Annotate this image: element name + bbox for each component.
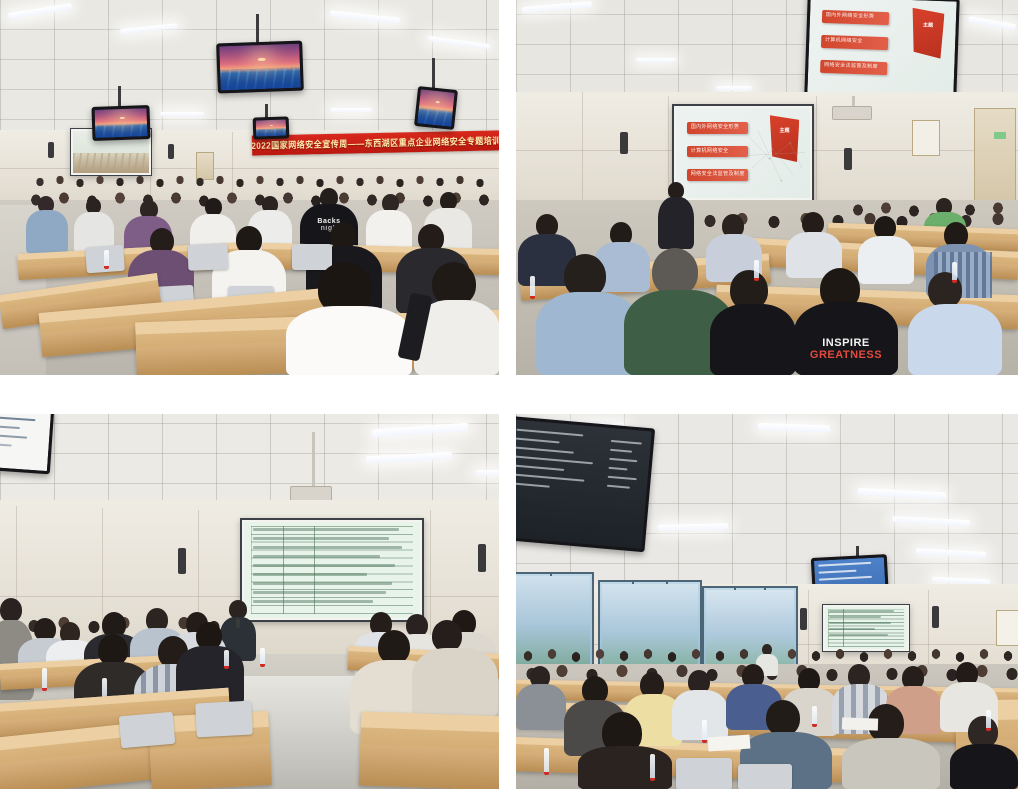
monitor-icon	[516, 416, 655, 552]
paper-handout	[842, 717, 878, 730]
water-bottle	[42, 668, 47, 691]
water-bottle	[530, 276, 535, 299]
water-bottle	[224, 650, 229, 669]
wall-speaker-icon	[48, 142, 54, 158]
ceiling-lamp	[476, 470, 499, 475]
slide-item-3: 网络安全法监管及制度	[820, 60, 887, 73]
ceiling-lamp	[716, 86, 752, 90]
jacket-text-line2: GREATNESS	[798, 350, 894, 362]
water-bottle	[952, 262, 957, 283]
slide-topic-flag-label: 主题	[912, 8, 945, 29]
water-bottle	[260, 648, 265, 667]
water-bottle	[702, 720, 707, 743]
wall-speaker-icon	[800, 608, 807, 630]
monitor-icon	[0, 414, 54, 474]
decorative-network-lines	[746, 124, 805, 187]
paper-handout	[708, 735, 751, 752]
monitor-icon	[414, 86, 458, 130]
exit-sign-icon	[994, 132, 1006, 139]
projection-screen	[240, 518, 424, 622]
slide-item-2: 计算机网络安全	[821, 35, 888, 48]
slide-topic-flag: 主题	[911, 8, 945, 59]
monitor-icon	[91, 105, 150, 141]
water-bottle	[754, 260, 759, 281]
water-bottle	[986, 710, 991, 731]
slide-item-3: 网络安全法监管及制度	[687, 169, 749, 180]
wall-speaker-icon	[168, 144, 174, 159]
water-bottle	[104, 250, 109, 269]
wall-speaker-icon	[620, 132, 628, 154]
wall-speaker-icon	[932, 606, 939, 628]
chair	[292, 244, 332, 270]
slide-item-1: 国内外网络安全形势	[822, 10, 889, 23]
chair	[188, 243, 229, 270]
wall-speaker-icon	[478, 544, 486, 572]
photo-bottom-left	[0, 414, 499, 789]
photo-bottom-right	[516, 414, 1018, 789]
monitor-icon: 国内外网络安全形势 计算机网络安全 网络安全法监管及制度 主题	[804, 0, 959, 101]
table-slide	[244, 522, 420, 618]
presentation-slide: 国内外网络安全形势 计算机网络安全 网络安全法监管及制度 主题	[676, 108, 810, 198]
photo-top-left: 2022国家网络安全宣传周——东西湖区重点企业网络安全专题培训	[0, 0, 499, 375]
lecture-desk	[359, 711, 499, 789]
chair	[119, 712, 176, 749]
microphone-icon	[236, 618, 240, 628]
slide-mirror: 国内外网络安全形势 计算机网络安全 网络安全法监管及制度 主题	[807, 0, 956, 98]
presenter-body	[658, 197, 694, 249]
monitor-icon	[216, 41, 304, 94]
projection-screen: 国内外网络安全形势 计算机网络安全 网络安全法监管及制度 主题	[672, 104, 814, 202]
jacket-text-line1: INSPIRE	[798, 338, 894, 350]
ceiling-lamp	[658, 523, 728, 530]
ceiling-lamp	[636, 58, 676, 62]
monitor-icon	[253, 116, 290, 139]
water-bottle	[650, 754, 655, 781]
water-bottle	[544, 748, 549, 775]
door	[974, 108, 1016, 206]
wall-speaker-icon	[844, 148, 852, 170]
wall-speaker-icon	[178, 548, 186, 574]
ceiling-lamp	[160, 112, 204, 116]
water-bottle	[812, 706, 817, 727]
ceiling-lamp	[330, 108, 372, 112]
projector-icon	[832, 106, 872, 120]
photo-top-right: 国内外网络安全形势 计算机网络安全 网络安全法监管及制度 主题	[516, 0, 1018, 375]
jacket-text: INSPIRE GREATNESS	[798, 338, 894, 361]
wall-panel	[996, 610, 1018, 646]
wall-panel	[912, 120, 940, 156]
photo-collage: 2022国家网络安全宣传周——东西湖区重点企业网络安全专题培训	[0, 0, 1018, 789]
chair	[738, 764, 792, 789]
chair	[676, 758, 732, 789]
chair	[195, 701, 253, 738]
dark-list-slide	[516, 419, 652, 549]
slide-item-1: 国内外网络安全形势	[687, 122, 749, 133]
slide-item-2: 计算机网络安全	[687, 146, 749, 157]
